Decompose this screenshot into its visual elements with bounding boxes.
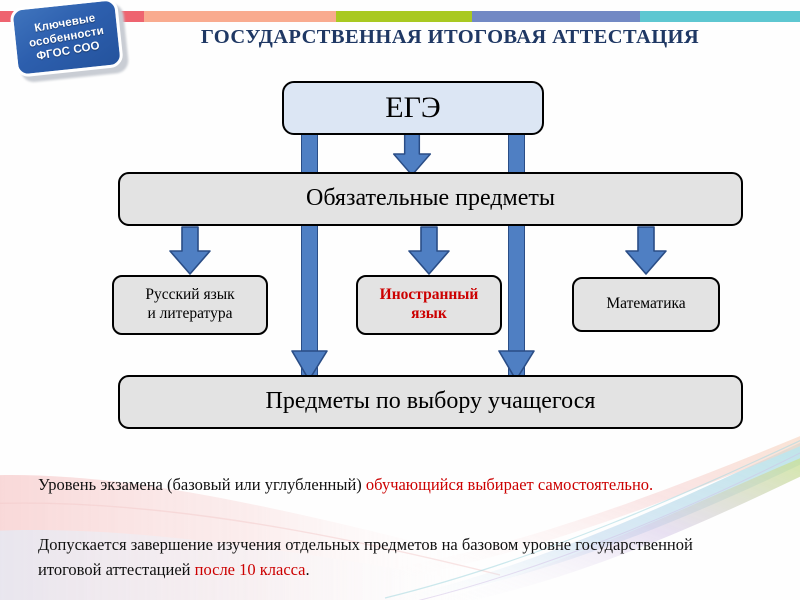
- para1-text-red: обучающийся выбирает самостоятельно.: [366, 475, 653, 494]
- connector-ege-to-elective-left: [301, 132, 318, 379]
- slide-canvas: Ключевые особенности ФГОС СОО ГОСУДАРСТВ…: [0, 0, 800, 600]
- stripe-blue: [472, 11, 640, 22]
- node-foreign-label: Иностранный язык: [380, 286, 479, 324]
- node-russian-language[interactable]: Русский язык и литература: [112, 275, 268, 335]
- node-ege[interactable]: ЕГЭ: [282, 81, 544, 135]
- arrow-required-to-math: [625, 227, 667, 275]
- stripe-salmon: [144, 11, 336, 22]
- arrow-required-to-russian: [169, 227, 211, 275]
- node-foreign-line-1: Иностранный: [380, 286, 479, 303]
- footer-paragraph-2: Допускается завершение изучения отдельны…: [38, 532, 738, 582]
- node-russian-line-1: Русский язык: [145, 286, 234, 303]
- node-elective-label: Предметы по выбору учащегося: [266, 387, 596, 416]
- node-mathematics[interactable]: Математика: [572, 277, 720, 332]
- node-russian-label: Русский язык и литература: [145, 286, 234, 324]
- para2-text-black: Допускается завершение изучения отдельны…: [38, 535, 693, 579]
- para2-text-red: после 10 класса: [195, 560, 306, 579]
- node-math-label: Математика: [606, 295, 685, 314]
- node-required-label: Обязательные предметы: [306, 184, 555, 213]
- stripe-green: [336, 11, 472, 22]
- badge-body: Ключевые особенности ФГОС СОО: [9, 0, 124, 78]
- node-elective-subjects[interactable]: Предметы по выбору учащегося: [118, 375, 743, 429]
- node-foreign-line-2: язык: [411, 305, 447, 322]
- connector-ege-to-elective-right: [508, 132, 525, 379]
- footer-paragraph-1: Уровень экзамена (базовый или углубленны…: [38, 472, 738, 497]
- node-required-subjects[interactable]: Обязательные предметы: [118, 172, 743, 226]
- node-russian-line-2: и литература: [147, 305, 232, 322]
- node-foreign-language[interactable]: Иностранный язык: [356, 275, 502, 335]
- key-features-badge: Ключевые особенности ФГОС СОО: [9, 0, 132, 86]
- arrow-ege-to-required: [391, 132, 433, 176]
- arrow-required-to-foreign: [408, 227, 450, 275]
- para1-text-black: Уровень экзамена (базовый или углубленны…: [38, 475, 366, 494]
- page-title: ГОСУДАРСТВЕННАЯ ИТОГОВАЯ АТТЕСТАЦИЯ: [150, 26, 750, 49]
- node-ege-label: ЕГЭ: [385, 90, 440, 127]
- para2-text-period: .: [306, 560, 310, 579]
- stripe-teal: [640, 11, 800, 22]
